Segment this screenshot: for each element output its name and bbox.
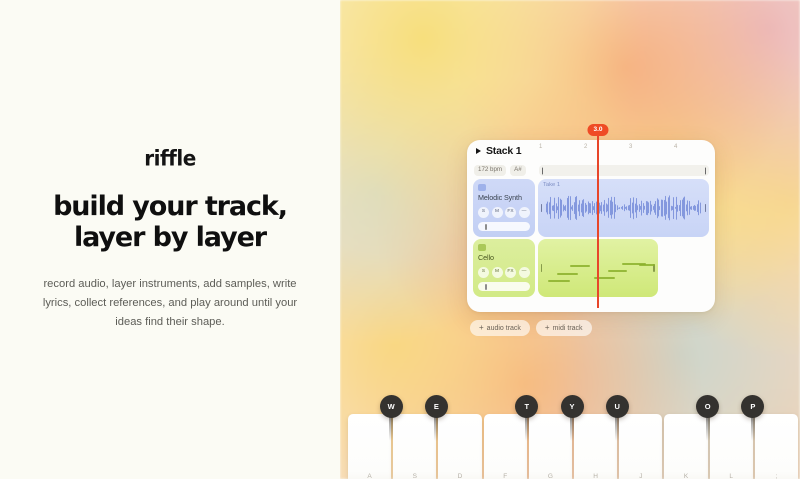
white-key-label: H bbox=[574, 473, 617, 479]
white-key-label: F bbox=[484, 473, 527, 479]
track-row: Melodic Synth S M FX — Take 1 bbox=[467, 179, 715, 237]
more-button[interactable]: — bbox=[519, 207, 530, 218]
add-midi-track-button[interactable]: + midi track bbox=[536, 320, 592, 336]
white-key-semicolon[interactable]: ; bbox=[755, 414, 798, 479]
white-key-f[interactable]: FT bbox=[484, 414, 527, 479]
waveform-icon bbox=[478, 184, 486, 191]
daw-header: Stack 1 1 2 3 4 bbox=[467, 140, 715, 162]
ruler-tick-2: 2 bbox=[584, 144, 587, 150]
stack-title: Stack 1 bbox=[486, 145, 521, 157]
waveform bbox=[546, 179, 701, 237]
ruler-tick-1: 1 bbox=[539, 144, 542, 150]
plus-icon: + bbox=[545, 324, 550, 332]
white-key-l[interactable]: LP bbox=[710, 414, 753, 479]
fx-button[interactable]: FX bbox=[505, 207, 516, 218]
audio-clip[interactable]: Take 1 bbox=[538, 179, 709, 237]
white-key-label: G bbox=[529, 473, 572, 479]
key-chip[interactable]: A# bbox=[510, 165, 526, 176]
midi-note[interactable] bbox=[639, 264, 655, 266]
playhead-line[interactable] bbox=[597, 136, 598, 308]
mute-button[interactable]: M bbox=[492, 267, 503, 278]
track-lane-melodic-synth[interactable]: Take 1 bbox=[538, 179, 709, 237]
hero-subcopy: record audio, layer instruments, add sam… bbox=[41, 275, 299, 333]
black-key-u[interactable]: U bbox=[606, 395, 629, 418]
more-button[interactable]: — bbox=[519, 267, 530, 278]
track-button-group: S M FX — bbox=[478, 267, 530, 278]
white-key-g[interactable]: GY bbox=[529, 414, 572, 479]
transport-strip[interactable] bbox=[539, 165, 709, 176]
loop-start-marker[interactable] bbox=[542, 167, 543, 174]
add-audio-track-button[interactable]: + audio track bbox=[470, 320, 530, 336]
playhead-time-badge: 3.0 bbox=[587, 124, 608, 136]
track-row: Cello S M FX — bbox=[467, 239, 715, 297]
bpm-chip[interactable]: 172 bpm bbox=[474, 165, 506, 176]
white-key-label: K bbox=[664, 473, 707, 479]
landing-page: riffle build your track, layer by layer … bbox=[0, 0, 800, 479]
midi-note[interactable] bbox=[570, 265, 590, 267]
track-name: Cello bbox=[478, 253, 530, 262]
track-button-group: S M FX — bbox=[478, 207, 530, 218]
product-preview-panel: 3.0 Stack 1 1 2 3 4 172 bpm A# bbox=[340, 0, 800, 479]
white-key-d[interactable]: D bbox=[438, 414, 481, 479]
white-key-s[interactable]: SE bbox=[393, 414, 436, 479]
volume-slider-knob[interactable] bbox=[485, 224, 487, 230]
clip-start-handle[interactable] bbox=[541, 264, 542, 272]
midi-note[interactable] bbox=[557, 273, 578, 275]
clip-end-handle[interactable] bbox=[705, 204, 706, 212]
brand-logo: riffle bbox=[144, 146, 196, 171]
volume-slider[interactable] bbox=[478, 222, 530, 231]
black-key-o[interactable]: O bbox=[696, 395, 719, 418]
volume-slider[interactable] bbox=[478, 282, 530, 291]
ruler-tick-4: 4 bbox=[674, 144, 677, 150]
white-key-label: J bbox=[619, 473, 662, 479]
midi-icon bbox=[478, 244, 486, 251]
volume-slider-knob[interactable] bbox=[485, 284, 487, 290]
track-header-melodic-synth[interactable]: Melodic Synth S M FX — bbox=[473, 179, 535, 237]
white-key-a[interactable]: AW bbox=[348, 414, 391, 479]
black-key-w[interactable]: W bbox=[380, 395, 403, 418]
track-lane-cello[interactable] bbox=[538, 239, 709, 297]
page-title: build your track, layer by layer bbox=[53, 192, 287, 252]
play-icon[interactable] bbox=[476, 148, 481, 154]
loop-end-marker[interactable] bbox=[705, 167, 706, 174]
timeline-ruler: 1 2 3 4 bbox=[539, 143, 715, 159]
clip-start-handle[interactable] bbox=[541, 204, 542, 212]
track-name: Melodic Synth bbox=[478, 193, 530, 202]
white-key-label: L bbox=[710, 473, 753, 479]
solo-button[interactable]: S bbox=[478, 267, 489, 278]
add-track-buttons: + audio track + midi track bbox=[470, 320, 592, 336]
white-key-j[interactable]: J bbox=[619, 414, 662, 479]
mute-button[interactable]: M bbox=[492, 207, 503, 218]
solo-button[interactable]: S bbox=[478, 207, 489, 218]
white-key-k[interactable]: KO bbox=[664, 414, 707, 479]
add-midi-track-label: midi track bbox=[553, 325, 583, 332]
daw-meta-row: 172 bpm A# bbox=[467, 162, 715, 179]
midi-note[interactable] bbox=[608, 270, 627, 272]
waveform-bar bbox=[700, 203, 701, 214]
white-key-label: A bbox=[348, 473, 391, 479]
fx-button[interactable]: FX bbox=[505, 267, 516, 278]
track-header-cello[interactable]: Cello S M FX — bbox=[473, 239, 535, 297]
midi-note[interactable] bbox=[548, 280, 570, 282]
white-key-label: D bbox=[438, 473, 481, 479]
black-key-e[interactable]: E bbox=[425, 395, 448, 418]
white-key-label: S bbox=[393, 473, 436, 479]
white-key-h[interactable]: HU bbox=[574, 414, 617, 479]
ruler-tick-3: 3 bbox=[629, 144, 632, 150]
add-audio-track-label: audio track bbox=[487, 325, 521, 332]
plus-icon: + bbox=[479, 324, 484, 332]
white-key-label: ; bbox=[755, 473, 798, 479]
hero-copy-panel: riffle build your track, layer by layer … bbox=[0, 0, 340, 479]
black-key-y[interactable]: Y bbox=[561, 395, 584, 418]
daw-stack-card: Stack 1 1 2 3 4 172 bpm A# bbox=[467, 140, 715, 312]
piano-keyboard: AWSEDFTGYHUJKOLP; bbox=[348, 414, 798, 479]
